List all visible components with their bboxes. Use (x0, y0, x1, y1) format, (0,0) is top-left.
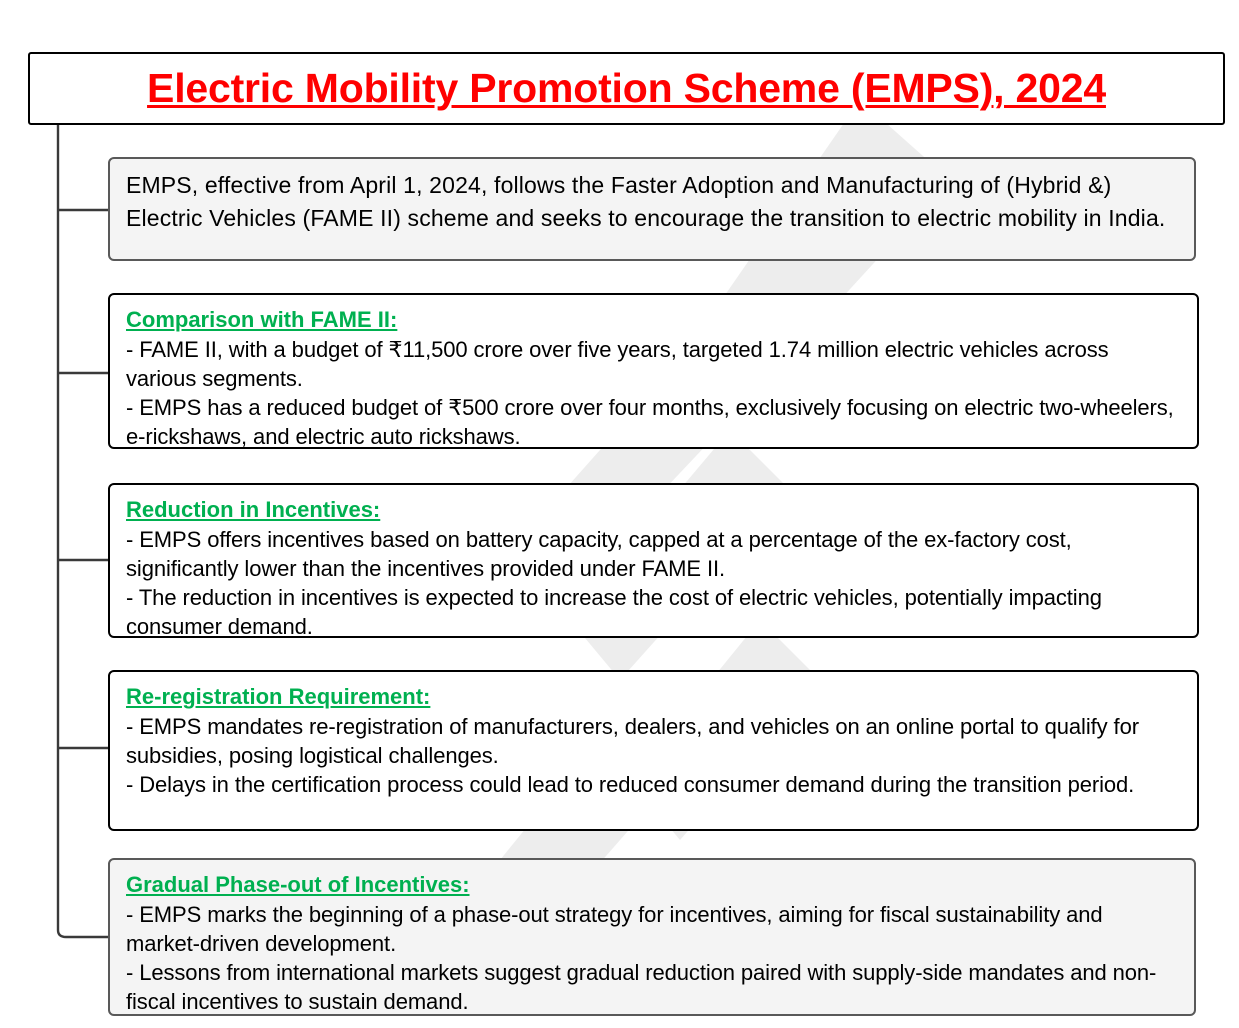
info-card-intro: EMPS, effective from April 1, 2024, foll… (108, 157, 1196, 261)
card-body-line: - FAME II, with a budget of ₹11,500 cror… (126, 335, 1183, 393)
card-heading: Gradual Phase-out of Incentives: (126, 870, 1180, 899)
card-body-line: - The reduction in incentives is expecte… (126, 583, 1183, 641)
card-body-line: - EMPS has a reduced budget of ₹500 cror… (126, 393, 1183, 451)
card-heading: Comparison with FAME II: (126, 305, 1183, 334)
card-body-line: - Lessons from international markets sug… (126, 958, 1180, 1016)
card-heading: Re-registration Requirement: (126, 682, 1183, 711)
page-title: Electric Mobility Promotion Scheme (EMPS… (147, 66, 1106, 111)
card-body-line: - EMPS mandates re-registration of manuf… (126, 712, 1183, 770)
page-title-box: Electric Mobility Promotion Scheme (EMPS… (28, 52, 1225, 125)
card-body-line: EMPS, effective from April 1, 2024, foll… (126, 169, 1180, 234)
card-body-line: - Delays in the certification process co… (126, 770, 1183, 799)
info-card-comparison-with-fame-ii: Comparison with FAME II: - FAME II, with… (108, 293, 1199, 449)
card-body-line: - EMPS marks the beginning of a phase-ou… (126, 900, 1180, 958)
card-heading: Reduction in Incentives: (126, 495, 1183, 524)
info-card-re-registration-requirement: Re-registration Requirement: - EMPS mand… (108, 670, 1199, 831)
card-body-line: - EMPS offers incentives based on batter… (126, 525, 1183, 583)
info-card-reduction-in-incentives: Reduction in Incentives: - EMPS offers i… (108, 483, 1199, 638)
info-card-gradual-phase-out-of-incentives: Gradual Phase-out of Incentives: - EMPS … (108, 858, 1196, 1016)
